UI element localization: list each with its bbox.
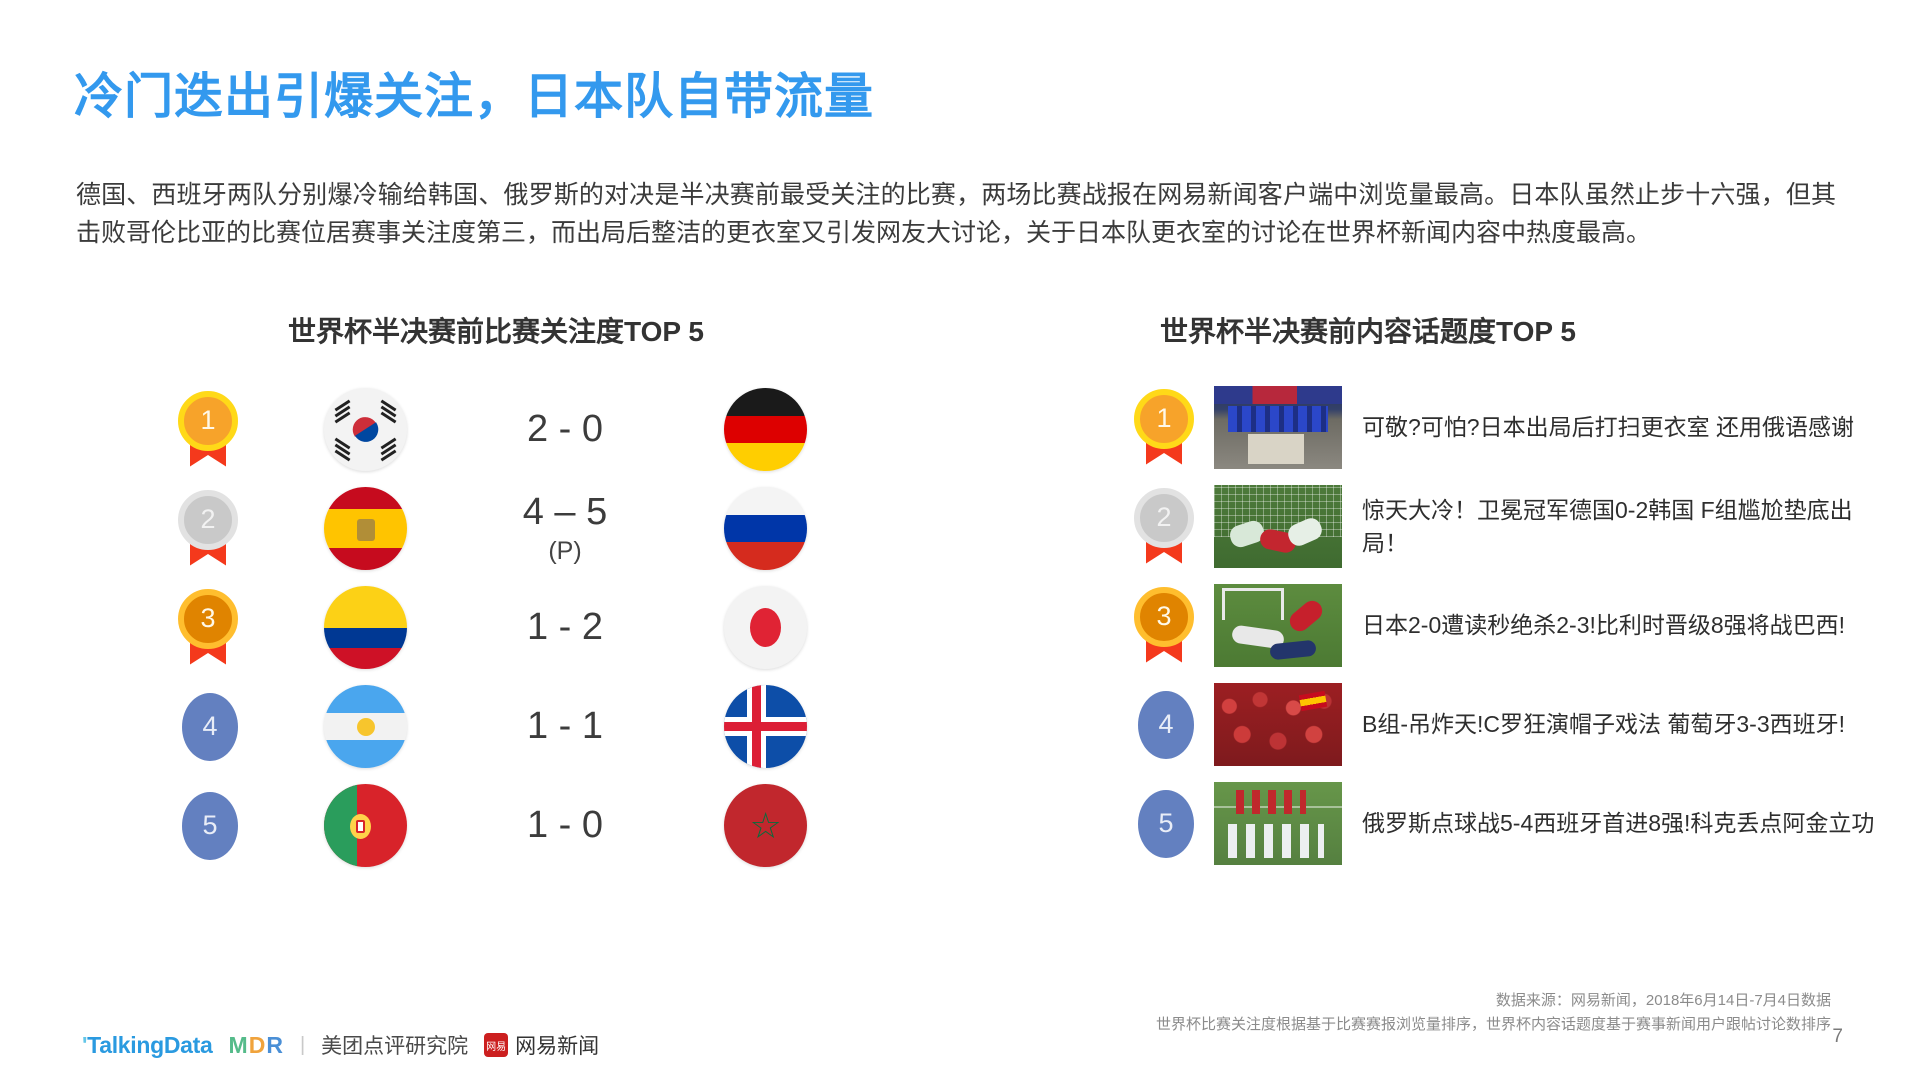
bronze-medal-icon: 3 bbox=[178, 589, 242, 667]
rank-badge-cell: 3 bbox=[1118, 587, 1214, 665]
match-score-cell: 1 - 2 bbox=[460, 606, 670, 650]
left-section-title: 世界杯半决赛前比赛关注度TOP 5 bbox=[288, 310, 704, 350]
rank-badge-cell: 5 bbox=[150, 792, 270, 860]
match-row[interactable]: 3 1 - 2 bbox=[150, 578, 910, 677]
mdr-logo: MDR bbox=[229, 1032, 284, 1059]
news-headline[interactable]: 俄罗斯点球战5-4西班牙首进8强!科克丢点阿金立功 bbox=[1362, 807, 1874, 840]
right-section-title: 世界杯半决赛前内容话题度TOP 5 bbox=[1160, 310, 1576, 350]
away-flag-cell: ☆ bbox=[670, 784, 860, 867]
match-score-note: (P) bbox=[460, 537, 670, 566]
match-score: 4 – 5 bbox=[523, 491, 608, 533]
page-number: 7 bbox=[1832, 1026, 1843, 1048]
news-row[interactable]: 3 日本2-0遭读秒绝杀2-3!比利时晋级8强将战巴西! bbox=[1118, 576, 1908, 675]
flag-germany-icon bbox=[724, 388, 807, 471]
rank-badge-cell: 3 bbox=[150, 589, 270, 667]
away-flag-cell bbox=[670, 388, 860, 471]
news-row[interactable]: 2 惊天大冷！卫冕冠军德国0-2韩国 F组尴尬垫底出局！ bbox=[1118, 477, 1908, 576]
flag-iceland-icon bbox=[724, 685, 807, 768]
footnote-source: 数据来源：网易新闻，2018年6月14日-7月4日数据 bbox=[1156, 989, 1831, 1013]
footnote-method: 世界杯比赛关注度根据基于比赛赛报浏览量排序，世界杯内容话题度基于赛事新闻用户跟帖… bbox=[1156, 1013, 1831, 1037]
rank-badge-cell: 2 bbox=[150, 490, 270, 568]
match-score: 1 - 2 bbox=[527, 606, 603, 648]
rank-number: 1 bbox=[178, 391, 238, 451]
page-description: 德国、西班牙两队分别爆冷输给韩国、俄罗斯的对决是半决赛前最受关注的比赛，两场比赛… bbox=[76, 176, 1836, 252]
away-flag-cell bbox=[670, 685, 860, 768]
rank-oval-icon: 5 bbox=[182, 792, 238, 860]
news-ranking-list: 1 可敬?可怕?日本出局后打扫更衣室 还用俄语感谢 2 惊天大冷！卫冕冠军德国0… bbox=[1118, 378, 1908, 873]
news-headline[interactable]: 日本2-0遭读秒绝杀2-3!比利时晋级8强将战巴西! bbox=[1362, 609, 1845, 642]
away-flag-cell bbox=[670, 586, 860, 669]
news-row[interactable]: 5 俄罗斯点球战5-4西班牙首进8强!科克丢点阿金立功 bbox=[1118, 774, 1908, 873]
news-headline[interactable]: 可敬?可怕?日本出局后打扫更衣室 还用俄语感谢 bbox=[1362, 411, 1854, 444]
bronze-medal-icon: 3 bbox=[1134, 587, 1198, 665]
home-flag-cell bbox=[270, 784, 460, 867]
rank-number: 2 bbox=[178, 490, 238, 550]
match-score: 1 - 1 bbox=[527, 705, 603, 747]
talkingdata-logo-text: TalkingData bbox=[87, 1032, 212, 1058]
home-flag-cell bbox=[270, 685, 460, 768]
flag-south-korea-icon bbox=[324, 388, 407, 471]
news-headline[interactable]: 惊天大冷！卫冕冠军德国0-2韩国 F组尴尬垫底出局！ bbox=[1362, 494, 1892, 560]
match-row[interactable]: 2 4 – 5 (P) bbox=[150, 479, 910, 578]
news-row[interactable]: 1 可敬?可怕?日本出局后打扫更衣室 还用俄语感谢 bbox=[1118, 378, 1908, 477]
news-thumbnail-celebration[interactable] bbox=[1214, 782, 1342, 865]
gold-medal-icon: 1 bbox=[1134, 389, 1198, 467]
news-headline[interactable]: B组-吊炸天!C罗狂演帽子戏法 葡萄牙3-3西班牙! bbox=[1362, 708, 1845, 741]
page-title: 冷门迭出引爆关注，日本队自带流量 bbox=[74, 57, 874, 128]
flag-russia-icon bbox=[724, 487, 807, 570]
news-row[interactable]: 4 B组-吊炸天!C罗狂演帽子戏法 葡萄牙3-3西班牙! bbox=[1118, 675, 1908, 774]
logo-divider: | bbox=[300, 1034, 305, 1057]
flag-japan-icon bbox=[724, 586, 807, 669]
slide-root: 冷门迭出引爆关注，日本队自带流量 德国、西班牙两队分别爆冷输给韩国、俄罗斯的对决… bbox=[0, 0, 1921, 1080]
rank-oval-icon: 4 bbox=[182, 693, 238, 761]
flag-portugal-icon bbox=[324, 784, 407, 867]
flag-spain-icon bbox=[324, 487, 407, 570]
silver-medal-icon: 2 bbox=[1134, 488, 1198, 566]
match-ranking-list: 1 bbox=[150, 380, 910, 875]
home-flag-cell bbox=[270, 388, 460, 471]
away-flag-cell bbox=[670, 487, 860, 570]
match-score-cell: 1 - 1 bbox=[460, 705, 670, 749]
home-flag-cell bbox=[270, 586, 460, 669]
rank-number: 2 bbox=[1134, 488, 1194, 548]
news-thumbnail-red-crowd[interactable] bbox=[1214, 683, 1342, 766]
match-score-cell: 1 - 0 bbox=[460, 804, 670, 848]
flag-morocco-icon: ☆ bbox=[724, 784, 807, 867]
meituan-research-logo: 美团点评研究院 bbox=[321, 1030, 468, 1060]
rank-badge-cell: 1 bbox=[150, 391, 270, 469]
netease-news-logo: 网易 网易新闻 bbox=[484, 1030, 599, 1060]
flag-argentina-icon bbox=[324, 685, 407, 768]
rank-badge-cell: 4 bbox=[1118, 691, 1214, 759]
rank-badge-cell: 4 bbox=[150, 693, 270, 761]
netease-news-text: 网易新闻 bbox=[515, 1030, 599, 1060]
match-row[interactable]: 5 1 - 0 ☆ bbox=[150, 776, 910, 875]
match-score-cell: 4 – 5 (P) bbox=[460, 491, 670, 565]
match-score: 2 - 0 bbox=[527, 408, 603, 450]
news-thumbnail-locker-room[interactable] bbox=[1214, 386, 1342, 469]
rank-number: 3 bbox=[1134, 587, 1194, 647]
rank-oval-icon: 5 bbox=[1138, 790, 1194, 858]
match-row[interactable]: 1 bbox=[150, 380, 910, 479]
footnote: 数据来源：网易新闻，2018年6月14日-7月4日数据 世界杯比赛关注度根据基于… bbox=[1156, 989, 1831, 1037]
talkingdata-logo: 'TalkingData bbox=[82, 1032, 213, 1059]
flag-colombia-icon bbox=[324, 586, 407, 669]
match-score: 1 - 0 bbox=[527, 804, 603, 846]
rank-badge-cell: 5 bbox=[1118, 790, 1214, 858]
netease-mark-icon: 网易 bbox=[484, 1033, 508, 1057]
rank-badge-cell: 2 bbox=[1118, 488, 1214, 566]
news-thumbnail-goal-mouth[interactable] bbox=[1214, 485, 1342, 568]
match-row[interactable]: 4 1 - 1 bbox=[150, 677, 910, 776]
footer-logos: 'TalkingData MDR | 美团点评研究院 网易 网易新闻 bbox=[82, 1030, 599, 1060]
rank-number: 1 bbox=[1134, 389, 1194, 449]
match-score-cell: 2 - 0 bbox=[460, 408, 670, 452]
rank-badge-cell: 1 bbox=[1118, 389, 1214, 467]
silver-medal-icon: 2 bbox=[178, 490, 242, 568]
home-flag-cell bbox=[270, 487, 460, 570]
rank-oval-icon: 4 bbox=[1138, 691, 1194, 759]
gold-medal-icon: 1 bbox=[178, 391, 242, 469]
news-thumbnail-players-on-pitch[interactable] bbox=[1214, 584, 1342, 667]
rank-number: 3 bbox=[178, 589, 238, 649]
